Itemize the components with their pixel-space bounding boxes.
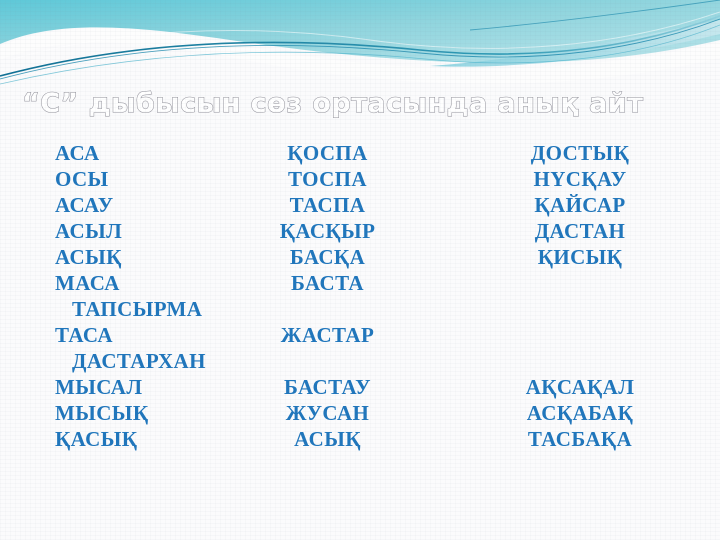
word-row: ОСЫТОСПАНҮСҚАУ (0, 166, 720, 192)
word-cell-col3: ДОСТЫҚ (445, 140, 715, 166)
word-row: МЫСЫҚЖУСАНАСҚАБАҚ (0, 400, 720, 426)
word-cell-col2: БАСТАУ (210, 374, 445, 400)
slide-title-text: “С” дыбысын сөз ортасында анық айт (0, 78, 720, 124)
slide: “С” дыбысын сөз ортасында анық айт АСАҚО… (0, 0, 720, 540)
word-cell-col3: ДАСТАН (445, 218, 715, 244)
decorative-banner (0, 0, 720, 86)
word-cell-col1: МЫСАЛ (0, 374, 210, 400)
word-cell-col1: ҚАСЫҚ (0, 426, 210, 452)
word-cell-col2: ҚАСҚЫР (210, 218, 445, 244)
word-row: ТАСАЖАСТАР (0, 322, 720, 348)
word-cell-col1: МАСА (0, 270, 210, 296)
word-row: МЫСАЛБАСТАУАҚСАҚАЛ (0, 374, 720, 400)
word-row: АСЫЛҚАСҚЫРДАСТАН (0, 218, 720, 244)
word-cell-col3: НҮСҚАУ (445, 166, 715, 192)
word-cell-col1: АСЫҚ (0, 244, 210, 270)
word-cell-col2: ЖУСАН (210, 400, 445, 426)
word-cell-col2: АСЫҚ (210, 426, 445, 452)
word-cell-col2: БАСҚА (210, 244, 445, 270)
word-cell: ДАСТАРХАН (0, 348, 206, 374)
word-cell-col2: ТАСПА (210, 192, 445, 218)
word-row: АСАУТАСПАҚАЙСАР (0, 192, 720, 218)
word-row-continuation: ТАПСЫРМА (0, 296, 720, 322)
word-cell-col3: АСҚАБАҚ (445, 400, 715, 426)
word-row: МАСАБАСТА (0, 270, 720, 296)
word-cell-col3: АҚСАҚАЛ (445, 374, 715, 400)
word-cell-col2: БАСТА (210, 270, 445, 296)
word-cell-col1: ОСЫ (0, 166, 210, 192)
word-cell-col2: ҚОСПА (210, 140, 445, 166)
word-cell-col1: АСА (0, 140, 210, 166)
word-row: ҚАСЫҚАСЫҚТАСБАҚА (0, 426, 720, 452)
banner-swoosh-graphic (0, 0, 720, 86)
word-cell-col2: ЖАСТАР (210, 322, 445, 348)
word-cell-col1: МЫСЫҚ (0, 400, 210, 426)
word-row: АСЫҚБАСҚАҚИСЫҚ (0, 244, 720, 270)
word-row-continuation: ДАСТАРХАН (0, 348, 720, 374)
slide-title: “С” дыбысын сөз ортасында анық айт (0, 78, 720, 124)
word-cell-col3: ҚИСЫҚ (445, 244, 715, 270)
slide-title-glyphs: “С” дыбысын сөз ортасында анық айт (22, 88, 643, 119)
word-cell: ТАПСЫРМА (0, 296, 202, 322)
word-table: АСАҚОСПАДОСТЫҚОСЫТОСПАНҮСҚАУАСАУТАСПАҚАЙ… (0, 140, 720, 452)
word-cell-col1: АСАУ (0, 192, 210, 218)
word-cell-col2: ТОСПА (210, 166, 445, 192)
word-row: АСАҚОСПАДОСТЫҚ (0, 140, 720, 166)
word-cell-col1: АСЫЛ (0, 218, 210, 244)
word-cell-col3: ҚАЙСАР (445, 192, 715, 218)
word-cell-col3: ТАСБАҚА (445, 426, 715, 452)
word-cell-col1: ТАСА (0, 322, 210, 348)
